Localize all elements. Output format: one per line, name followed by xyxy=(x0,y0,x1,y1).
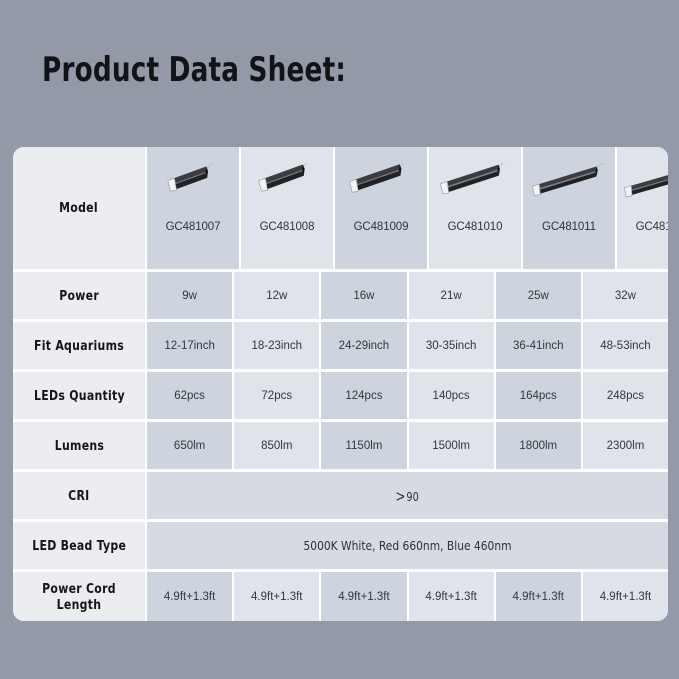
led-bead-type-value: 5000K White, Red 660nm, Blue 460nm xyxy=(303,538,511,553)
row-label-power-cord-length: Power Cord Length xyxy=(13,572,145,621)
led-light-bar-icon xyxy=(617,163,668,219)
row-label-led-bead-type: LED Bead Type xyxy=(13,522,145,569)
lumens-cell-3: 1150lm xyxy=(321,422,406,469)
power-cells: 9w 12w 16w 21w 25w 32w xyxy=(147,272,668,319)
fit-aquariums-cell-6: 48-53inch xyxy=(583,322,668,369)
greater-than-icon: > xyxy=(396,488,405,505)
leds-quantity-cell-2: 72pcs xyxy=(234,372,319,419)
led-light-bar-icon xyxy=(241,163,333,219)
model-code: GC481010 xyxy=(448,221,503,233)
fit-aquariums-cell-3: 24-29inch xyxy=(321,322,406,369)
fit-aquariums-cell-5: 36-41inch xyxy=(496,322,581,369)
table-row-power: Power 9w 12w 16w 21w 25w 32w xyxy=(13,272,668,319)
row-label-model-text: Model xyxy=(60,200,99,216)
table-row-cri: CRI >90 xyxy=(13,472,668,519)
row-label-led-bead-type-text: LED Bead Type xyxy=(32,538,126,554)
lumens-cell-6: 2300lm xyxy=(583,422,668,469)
fit-aquariums-cell-1: 12-17inch xyxy=(147,322,232,369)
page-title: Product Data Sheet: xyxy=(42,50,346,90)
power-cell-3: 16w xyxy=(321,272,406,319)
model-cell-5[interactable]: GC481011 xyxy=(523,147,615,269)
table-row-lumens: Lumens 650lm 850lm 1150lm 1500lm 1800lm … xyxy=(13,422,668,469)
table-row-fit-aquariums: Fit Aquariums 12-17inch 18-23inch 24-29i… xyxy=(13,322,668,369)
power-cell-2: 12w xyxy=(234,272,319,319)
power-cell-6: 32w xyxy=(583,272,668,319)
lumens-cell-4: 1500lm xyxy=(409,422,494,469)
table-row-leds-quantity: LEDs Quantity 62pcs 72pcs 124pcs 140pcs … xyxy=(13,372,668,419)
led-light-bar-icon xyxy=(523,163,615,219)
power-cord-length-cell-6: 4.9ft+1.3ft xyxy=(583,572,668,621)
power-cord-length-cell-3: 4.9ft+1.3ft xyxy=(321,572,406,621)
cri-value-cell: >90 xyxy=(147,472,668,519)
row-label-fit-aquariums: Fit Aquariums xyxy=(13,322,145,369)
lumens-cell-1: 650lm xyxy=(147,422,232,469)
lumens-cell-5: 1800lm xyxy=(496,422,581,469)
model-cell-4[interactable]: GC481010 xyxy=(429,147,521,269)
row-label-fit-aquariums-text: Fit Aquariums xyxy=(34,338,124,354)
leds-quantity-cell-6: 248pcs xyxy=(583,372,668,419)
lumens-cell-2: 850lm xyxy=(234,422,319,469)
row-label-power-text: Power xyxy=(59,288,99,304)
table-row-led-bead-type: LED Bead Type 5000K White, Red 660nm, Bl… xyxy=(13,522,668,569)
power-cell-5: 25w xyxy=(496,272,581,319)
model-code: GC481007 xyxy=(166,221,221,233)
model-code: GC481009 xyxy=(354,221,409,233)
led-light-bar-icon xyxy=(335,163,427,219)
model-code: GC481012 xyxy=(636,221,668,233)
lumens-cells: 650lm 850lm 1150lm 1500lm 1800lm 2300lm xyxy=(147,422,668,469)
model-cell-3[interactable]: GC481009 xyxy=(335,147,427,269)
power-cell-4: 21w xyxy=(409,272,494,319)
power-cord-length-cell-1: 4.9ft+1.3ft xyxy=(147,572,232,621)
power-cord-length-cell-5: 4.9ft+1.3ft xyxy=(496,572,581,621)
power-cell-1: 9w xyxy=(147,272,232,319)
power-cord-length-cells: 4.9ft+1.3ft 4.9ft+1.3ft 4.9ft+1.3ft 4.9f… xyxy=(147,572,668,621)
model-cells: GC481007 GC481008 xyxy=(147,147,668,269)
row-label-lumens: Lumens xyxy=(13,422,145,469)
fit-aquariums-cell-4: 30-35inch xyxy=(409,322,494,369)
row-label-lumens-text: Lumens xyxy=(54,438,103,454)
cri-value: >90 xyxy=(396,487,419,504)
fit-aquariums-cells: 12-17inch 18-23inch 24-29inch 30-35inch … xyxy=(147,322,668,369)
led-light-bar-icon xyxy=(147,163,239,219)
leds-quantity-cells: 62pcs 72pcs 124pcs 140pcs 164pcs 248pcs xyxy=(147,372,668,419)
cri-value-number: 90 xyxy=(406,490,418,504)
row-label-cri: CRI xyxy=(13,472,145,519)
power-cord-length-cell-2: 4.9ft+1.3ft xyxy=(234,572,319,621)
row-label-model: Model xyxy=(13,147,145,269)
product-spec-table: Model GC481007 xyxy=(13,147,668,621)
leds-quantity-cell-1: 62pcs xyxy=(147,372,232,419)
leds-quantity-cell-4: 140pcs xyxy=(409,372,494,419)
leds-quantity-cell-3: 124pcs xyxy=(321,372,406,419)
model-cell-6[interactable]: GC481012 xyxy=(617,147,668,269)
leds-quantity-cell-5: 164pcs xyxy=(496,372,581,419)
table-row-model: Model GC481007 xyxy=(13,147,668,269)
power-cord-length-cell-4: 4.9ft+1.3ft xyxy=(409,572,494,621)
fit-aquariums-cell-2: 18-23inch xyxy=(234,322,319,369)
table-row-power-cord-length: Power Cord Length 4.9ft+1.3ft 4.9ft+1.3f… xyxy=(13,572,668,621)
led-light-bar-icon xyxy=(429,163,521,219)
row-label-leds-quantity: LEDs Quantity xyxy=(13,372,145,419)
row-label-power-cord-length-text: Power Cord Length xyxy=(20,581,139,613)
model-cell-2[interactable]: GC481008 xyxy=(241,147,333,269)
model-code: GC481008 xyxy=(260,221,315,233)
row-label-power: Power xyxy=(13,272,145,319)
model-cell-1[interactable]: GC481007 xyxy=(147,147,239,269)
row-label-cri-text: CRI xyxy=(68,488,89,504)
led-bead-type-value-cell: 5000K White, Red 660nm, Blue 460nm xyxy=(147,522,668,569)
model-code: GC481011 xyxy=(542,221,596,233)
row-label-leds-quantity-text: LEDs Quantity xyxy=(34,388,125,404)
